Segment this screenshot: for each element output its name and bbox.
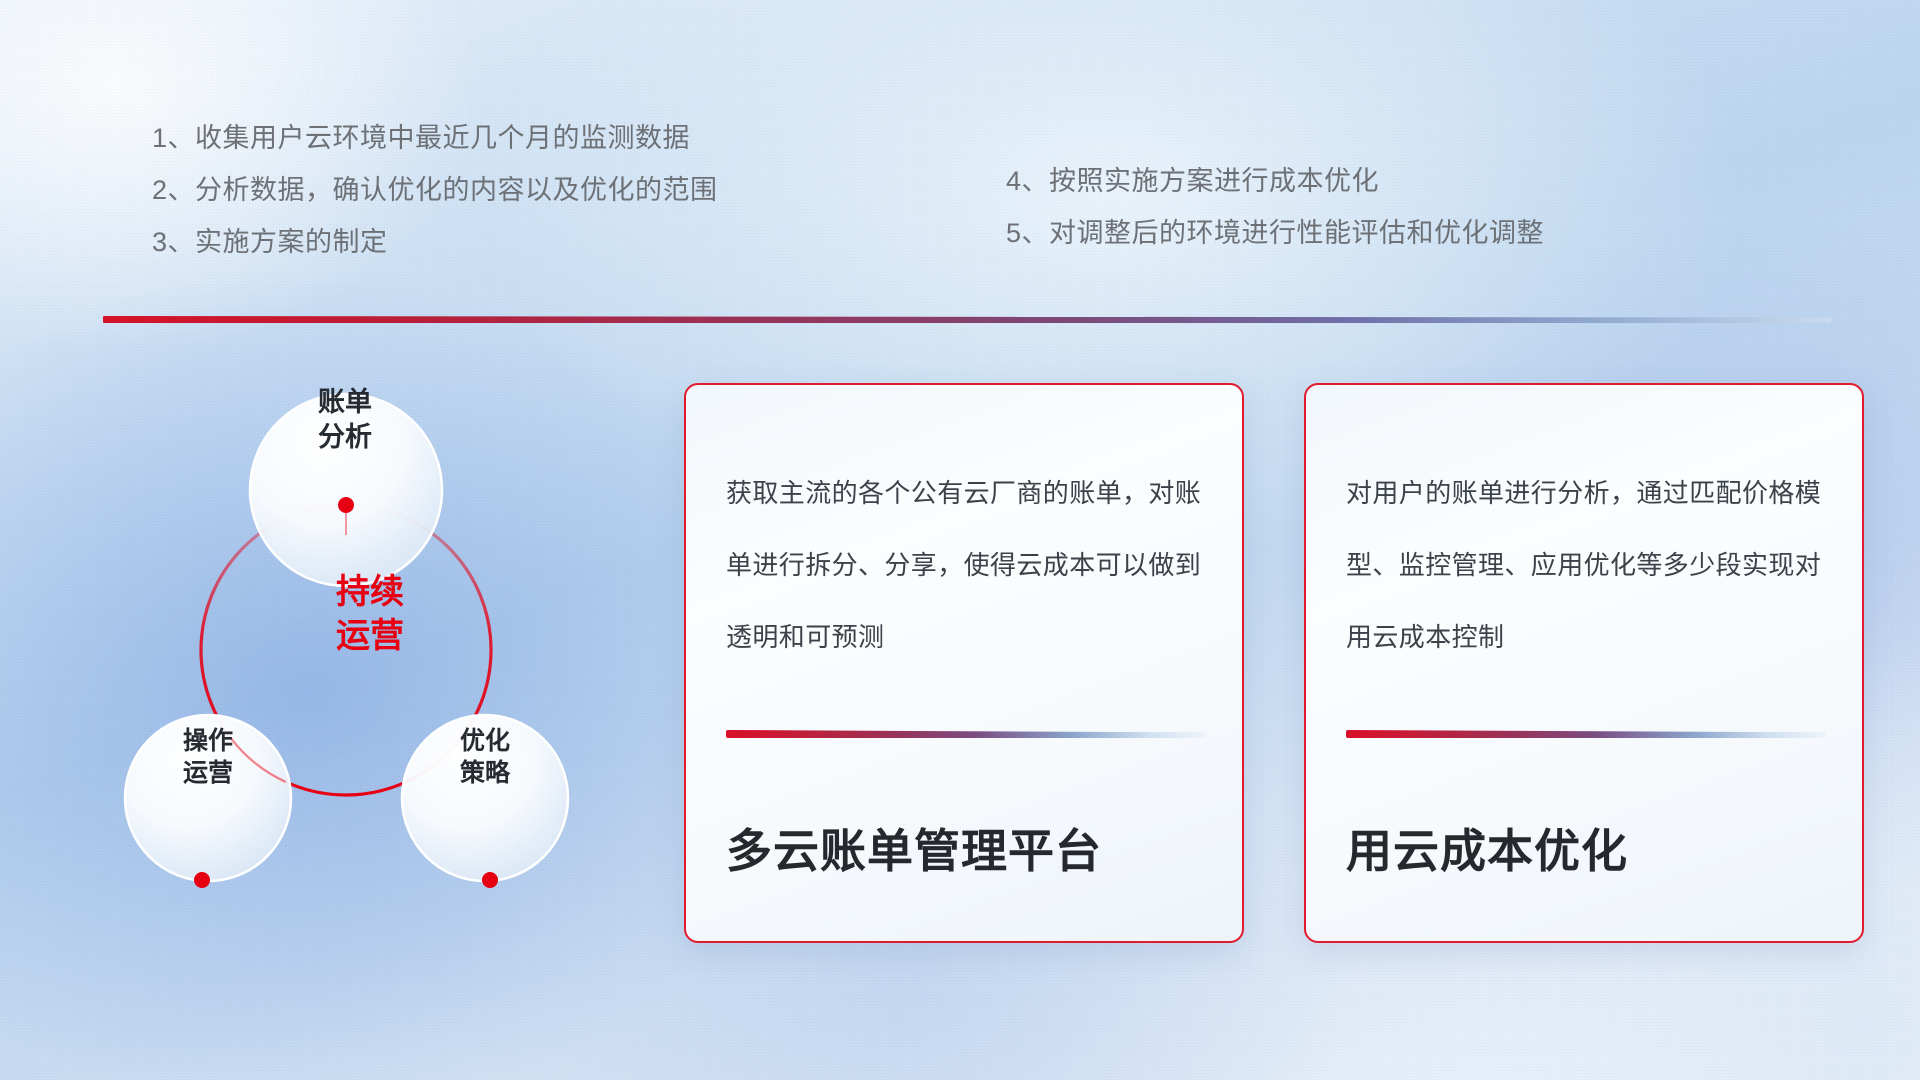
venn-diagram: 账单 分析 操作 运营 优化 策略 持续 运营 [90, 350, 650, 950]
process-step-list-right: 4、按照实施方案进行成本优化 5、对调整后的环境进行性能评估和优化调整 [1006, 155, 1806, 259]
venn-diagram-svg [90, 350, 650, 950]
process-step-item: 1、收集用户云环境中最近几个月的监测数据 [152, 112, 912, 164]
process-step-item: 4、按照实施方案进行成本优化 [1006, 155, 1806, 207]
card-title: 用云成本优化 [1346, 815, 1832, 881]
venn-bubble-optimization-strategy [402, 715, 568, 881]
card-description: 对用户的账单进行分析，通过匹配价格模型、监控管理、应用优化等多少段实现对用云成本… [1346, 457, 1826, 673]
process-step-item: 3、实施方案的制定 [152, 216, 912, 268]
process-step-list-left: 1、收集用户云环境中最近几个月的监测数据 2、分析数据，确认优化的内容以及优化的… [152, 112, 912, 268]
card-cloud-cost-optimization[interactable]: 对用户的账单进行分析，通过匹配价格模型、监控管理、应用优化等多少段实现对用云成本… [1304, 383, 1864, 943]
venn-node-dot-bottom-left [194, 872, 210, 888]
venn-bubble-operation [125, 715, 291, 881]
card-accent-rule [1346, 730, 1826, 738]
card-title: 多云账单管理平台 [726, 815, 1212, 881]
process-step-item: 5、对调整后的环境进行性能评估和优化调整 [1006, 207, 1806, 259]
venn-bubble-bill-analysis [250, 394, 442, 586]
venn-node-dot-bottom-right [482, 872, 498, 888]
card-description: 获取主流的各个公有云厂商的账单，对账单进行拆分、分享，使得云成本可以做到透明和可… [726, 457, 1206, 673]
card-multi-cloud-billing-platform[interactable]: 获取主流的各个公有云厂商的账单，对账单进行拆分、分享，使得云成本可以做到透明和可… [684, 383, 1244, 943]
feature-card-group: 获取主流的各个公有云厂商的账单，对账单进行拆分、分享，使得云成本可以做到透明和可… [684, 383, 1884, 943]
process-step-item: 2、分析数据，确认优化的内容以及优化的范围 [152, 164, 912, 216]
card-accent-rule [726, 730, 1206, 738]
